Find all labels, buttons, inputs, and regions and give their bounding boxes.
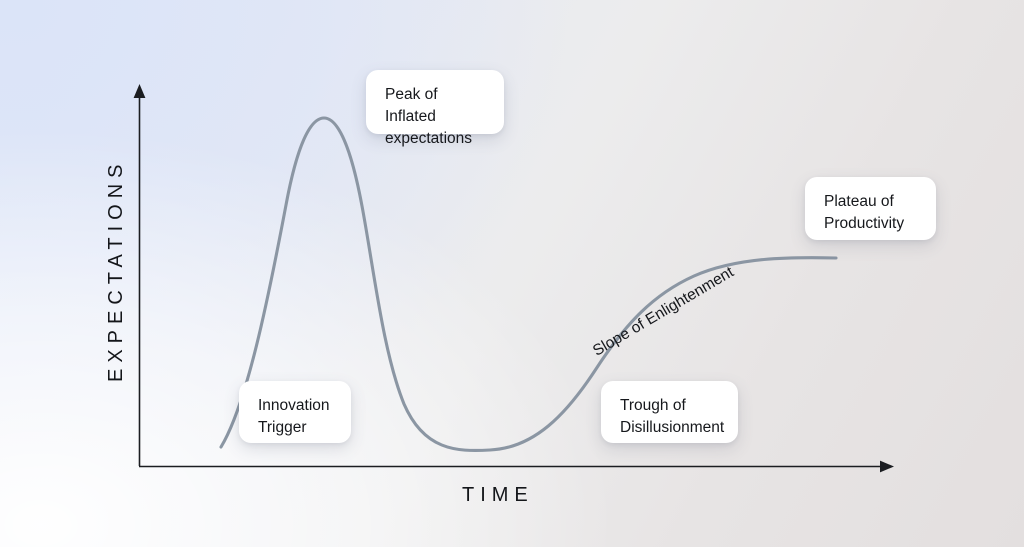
callout-trough-of-disillusionment[interactable]: Trough of Disillusionment xyxy=(601,381,738,443)
x-axis-title: TIME xyxy=(462,484,534,507)
hype-cycle-diagram: EXPECTATIONS TIME Peak of Inflated expec… xyxy=(0,0,1024,547)
callout-innovation-trigger[interactable]: Innovation Trigger xyxy=(239,381,351,443)
y-axis-title: EXPECTATIONS xyxy=(105,158,128,382)
callout-plateau-of-productivity[interactable]: Plateau of Productivity xyxy=(805,177,936,240)
x-axis-arrowhead-icon xyxy=(880,461,894,473)
y-axis-arrowhead-icon xyxy=(134,84,146,98)
callout-peak-of-inflated-expectations[interactable]: Peak of Inflated expectations xyxy=(366,70,504,134)
chart-canvas xyxy=(0,0,1024,547)
